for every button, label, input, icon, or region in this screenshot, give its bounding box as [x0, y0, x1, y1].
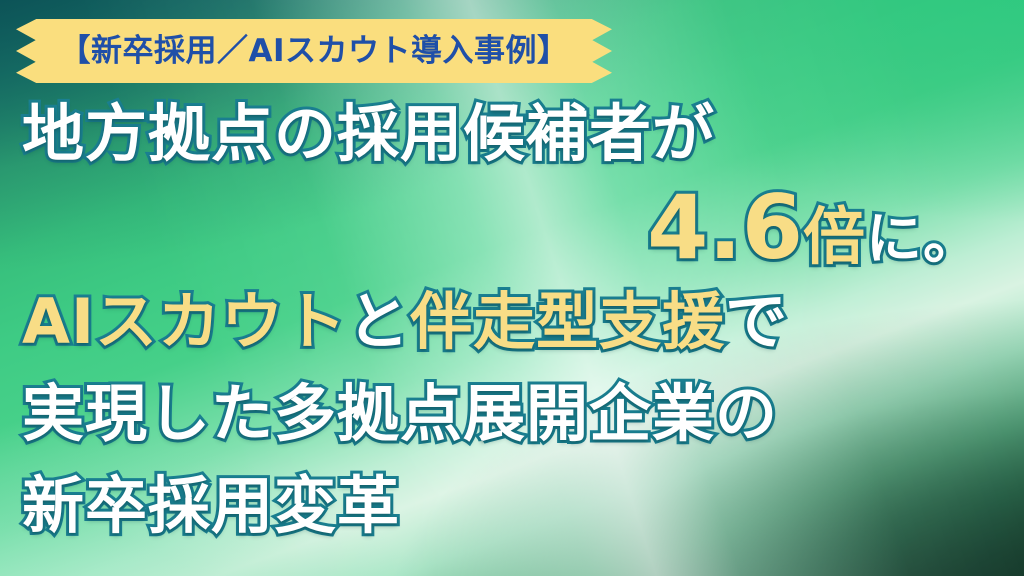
- headline-segment-ai-scout: AIスカウト: [22, 285, 347, 358]
- headline-segment: 実現した多拠点展開企業の: [22, 377, 778, 450]
- headline-segment-to: と: [347, 285, 410, 358]
- slide-canvas: 【新卒採用／AIスカウト導入事例】 地方拠点の採用候補者が 4.6倍に。 AIス…: [0, 0, 1024, 576]
- headline-segment: 地方拠点の採用候補者が: [22, 97, 715, 170]
- category-badge: 【新卒採用／AIスカウト導入事例】: [16, 19, 612, 83]
- headline-line-1: 地方拠点の採用候補者が: [0, 88, 1024, 180]
- headline-block: 地方拠点の採用候補者が 4.6倍に。 AIスカウトと伴走型支援で 実現した多拠点…: [0, 88, 1024, 552]
- metric-unit: 倍: [803, 200, 866, 273]
- headline-line-3: AIスカウトと伴走型支援で: [0, 276, 1024, 368]
- headline-segment: 新卒採用変革: [22, 469, 400, 542]
- headline-segment-support: 伴走型支援: [410, 285, 725, 358]
- category-badge-label: 【新卒採用／AIスカウト導入事例】: [59, 36, 568, 67]
- headline-segment-de: で: [725, 285, 788, 358]
- metric-value: 4.6: [647, 176, 803, 279]
- headline-line-5: 新卒採用変革: [0, 460, 1024, 552]
- metric-suffix: に。: [866, 207, 980, 272]
- headline-line-4: 実現した多拠点展開企業の: [0, 368, 1024, 460]
- headline-line-2: 4.6倍に。: [0, 180, 1024, 276]
